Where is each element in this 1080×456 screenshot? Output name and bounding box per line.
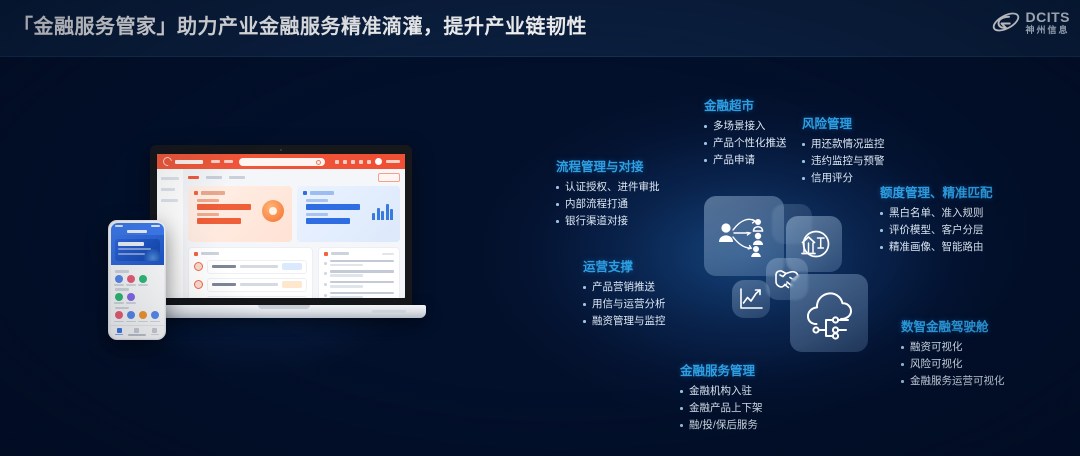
dashboard-content xyxy=(183,169,405,298)
phone-app-icon-empty xyxy=(150,293,160,304)
list-item: 黑白名单、准入规则 xyxy=(880,205,993,222)
block-quota: 额度管理、精准匹配 黑白名单、准入规则 评价模型、客户分层 精准画像、智能路由 xyxy=(880,182,993,256)
task-icon xyxy=(194,262,203,271)
phone-app-row xyxy=(114,275,161,286)
list-item: 内部流程打通 xyxy=(556,196,660,213)
list-item[interactable] xyxy=(324,260,394,268)
phone-section-label xyxy=(115,288,129,291)
list-item: 用还款情况监控 xyxy=(802,136,885,153)
dashboard-brand xyxy=(163,157,203,166)
logo-text-cn: 神州信息 xyxy=(1026,26,1071,35)
laptop-lid xyxy=(150,145,412,307)
list-item[interactable] xyxy=(324,281,394,289)
block-list: 认证授权、进件审批 内部流程打通 银行渠道对接 xyxy=(556,179,660,230)
phone-app-icon[interactable] xyxy=(126,311,136,322)
kpi-value xyxy=(197,204,251,210)
phone-app-icon[interactable] xyxy=(114,275,124,286)
panel-header xyxy=(324,252,394,256)
card-growth-chart xyxy=(732,280,770,318)
list-item: 银行渠道对接 xyxy=(556,213,660,230)
phone-screen xyxy=(111,223,164,338)
icon-card-cluster xyxy=(700,192,880,362)
block-list: 黑白名单、准入规则 评价模型、客户分层 精准画像、智能路由 xyxy=(880,205,993,256)
kpi-card-asset xyxy=(297,186,401,242)
block-title: 运营支撑 xyxy=(583,256,666,275)
block-title: 流程管理与对接 xyxy=(556,156,660,175)
list-item: 精准画像、智能路由 xyxy=(880,239,993,256)
kpi-value xyxy=(306,218,350,224)
phone-tab-home[interactable] xyxy=(115,328,123,336)
dashboard-search-input[interactable] xyxy=(239,158,325,166)
block-risk: 风险管理 用还款情况监控 违约监控与预警 信用评分 xyxy=(802,113,885,187)
dashboard-topbar xyxy=(157,154,405,169)
sidebar-item[interactable] xyxy=(161,199,178,202)
more-link[interactable] xyxy=(382,253,394,256)
brand-logo: DCITS 神州信息 xyxy=(991,9,1071,35)
phone-app-icon[interactable] xyxy=(138,311,148,322)
list-item: 信用评分 xyxy=(802,170,885,187)
phone-app-icon[interactable] xyxy=(150,311,160,322)
list-item: 产品申请 xyxy=(704,152,787,169)
laptop-notch xyxy=(258,305,310,309)
phone-app-icon[interactable] xyxy=(126,293,136,304)
list-item: 认证授权、进件审批 xyxy=(556,179,660,196)
phone-section-label xyxy=(115,270,129,273)
phone-app-icon[interactable] xyxy=(114,311,124,322)
device-mockups xyxy=(108,140,438,345)
bank-coin-icon xyxy=(797,227,831,261)
phone-app-icon[interactable] xyxy=(138,275,148,286)
panel-tasks xyxy=(188,247,313,298)
phone-mockup xyxy=(108,220,166,340)
dashboard-brand-text xyxy=(175,160,203,164)
list-item: 融资可视化 xyxy=(901,339,1005,356)
list-item: 产品营销推送 xyxy=(583,279,666,296)
phone-app-row xyxy=(114,311,161,322)
block-list: 用还款情况监控 违约监控与预警 信用评分 xyxy=(802,136,885,187)
slide-root: 「金融服务管家」助力产业金融服务精准滴灌，提升产业链韧性 DCITS 神州信息 … xyxy=(0,0,1080,456)
kpi-row xyxy=(188,186,400,242)
logo-text-en: DCITS xyxy=(1026,10,1071,24)
phone-section-label xyxy=(115,307,129,310)
list-item: 风险可视化 xyxy=(901,356,1005,373)
tab[interactable] xyxy=(206,176,222,180)
kpi-label xyxy=(306,199,328,202)
list-item: 多场景接入 xyxy=(704,118,787,135)
block-ops: 运营支撑 产品营销推送 用信与运营分析 融资管理与监控 xyxy=(583,256,666,330)
block-process: 流程管理与对接 认证授权、进件审批 内部流程打通 银行渠道对接 xyxy=(556,156,660,230)
block-list: 多场景接入 产品个性化推送 产品申请 xyxy=(704,118,787,169)
block-list: 融资可视化 风险可视化 金融服务运营可视化 xyxy=(901,339,1005,390)
list-item: 用信与运营分析 xyxy=(583,296,666,313)
list-item: 金融产品上下架 xyxy=(680,400,763,417)
tab[interactable] xyxy=(229,176,245,180)
sidebar-item[interactable] xyxy=(161,177,179,180)
kpi-label xyxy=(197,199,219,202)
tab-active[interactable] xyxy=(188,176,199,180)
list-item: 产品个性化推送 xyxy=(704,135,787,152)
laptop-camera xyxy=(280,149,282,151)
laptop-foot xyxy=(372,310,406,313)
phone-home-indicator xyxy=(128,334,146,336)
phone-hero-banner xyxy=(111,235,164,265)
list-item: 评价模型、客户分层 xyxy=(880,222,993,239)
phone-hero-card xyxy=(115,239,160,261)
kpi-label xyxy=(197,213,219,216)
message-icon[interactable] xyxy=(335,160,339,164)
cloud-computing-icon xyxy=(802,290,856,336)
block-title: 风险管理 xyxy=(802,113,885,132)
block-title: 金融超市 xyxy=(704,95,787,114)
search-icon[interactable] xyxy=(343,160,347,164)
phone-app-row xyxy=(114,293,161,304)
kpi-header xyxy=(194,191,286,195)
block-cockpit: 数智金融驾驶舱 融资可视化 风险可视化 金融服务运营可视化 xyxy=(901,316,1005,390)
kpi-header xyxy=(303,191,395,195)
dashboard-ui xyxy=(157,154,405,298)
status-badge xyxy=(282,263,302,270)
panel-header xyxy=(194,252,307,256)
list-item[interactable] xyxy=(324,270,394,278)
phone-app-icon-empty xyxy=(138,293,148,304)
page-title: 「金融服务管家」助力产业金融服务精准滴灌，提升产业链韧性 xyxy=(13,10,587,39)
list-item: 违约监控与预警 xyxy=(802,153,885,170)
table-row[interactable] xyxy=(194,278,307,292)
dcits-swirl-icon xyxy=(991,9,1021,35)
block-title: 数智金融驾驶舱 xyxy=(901,316,1005,335)
panel-news xyxy=(318,247,400,298)
dashboard-brand-icon xyxy=(161,155,174,168)
laptop-base xyxy=(141,305,426,318)
dashboard-action-button[interactable] xyxy=(378,173,400,182)
dashboard-actions[interactable] xyxy=(335,158,400,165)
username-label xyxy=(386,160,400,164)
block-list: 产品营销推送 用信与运营分析 融资管理与监控 xyxy=(583,279,666,330)
panel-row xyxy=(188,247,400,298)
dashboard-nav[interactable] xyxy=(211,160,233,164)
kpi-card-loan xyxy=(188,186,292,242)
task-icon xyxy=(194,280,203,289)
list-item: 金融机构入驻 xyxy=(680,383,763,400)
phone-app-icon-empty xyxy=(150,275,160,286)
kpi-label xyxy=(306,213,328,216)
people-network-icon xyxy=(716,212,772,260)
list-item: 金融服务运营可视化 xyxy=(901,373,1005,390)
table-row[interactable] xyxy=(194,260,307,274)
list-item: 融资管理与监控 xyxy=(583,313,666,330)
table-row[interactable] xyxy=(194,296,307,299)
list-item: 融/投/保后服务 xyxy=(680,417,763,434)
phone-hero-glow xyxy=(142,249,160,261)
grid-icon[interactable] xyxy=(359,160,363,164)
kpi-value xyxy=(306,204,360,210)
kpi-sparkline-chart xyxy=(372,202,393,220)
laptop-screen xyxy=(157,154,405,298)
status-badge xyxy=(282,281,302,288)
sidebar-item[interactable] xyxy=(161,188,175,191)
phone-app-icon[interactable] xyxy=(126,275,136,286)
kpi-badge-icon xyxy=(262,200,284,222)
block-title: 金融服务管理 xyxy=(680,360,763,379)
kpi-value xyxy=(197,218,241,224)
list-item[interactable] xyxy=(324,292,394,298)
bell-icon[interactable] xyxy=(351,160,355,164)
card-cloud-computing xyxy=(790,274,868,352)
block-list: 金融机构入驻 金融产品上下架 融/投/保后服务 xyxy=(680,383,763,434)
help-icon[interactable] xyxy=(367,160,371,164)
phone-hero-title xyxy=(118,242,144,246)
block-finmarket: 金融超市 多场景接入 产品个性化推送 产品申请 xyxy=(704,95,787,169)
growth-chart-icon xyxy=(738,287,764,311)
laptop-mockup xyxy=(141,145,426,335)
dashboard-tabs[interactable] xyxy=(188,173,400,182)
block-title: 额度管理、精准匹配 xyxy=(880,182,993,201)
header-bar: 「金融服务管家」助力产业金融服务精准滴灌，提升产业链韧性 DCITS 神州信息 xyxy=(0,0,1080,57)
avatar[interactable] xyxy=(375,158,382,165)
phone-app-icon[interactable] xyxy=(114,293,124,304)
phone-tab-mine[interactable] xyxy=(151,328,159,336)
block-service: 金融服务管理 金融机构入驻 金融产品上下架 融/投/保后服务 xyxy=(680,360,763,434)
